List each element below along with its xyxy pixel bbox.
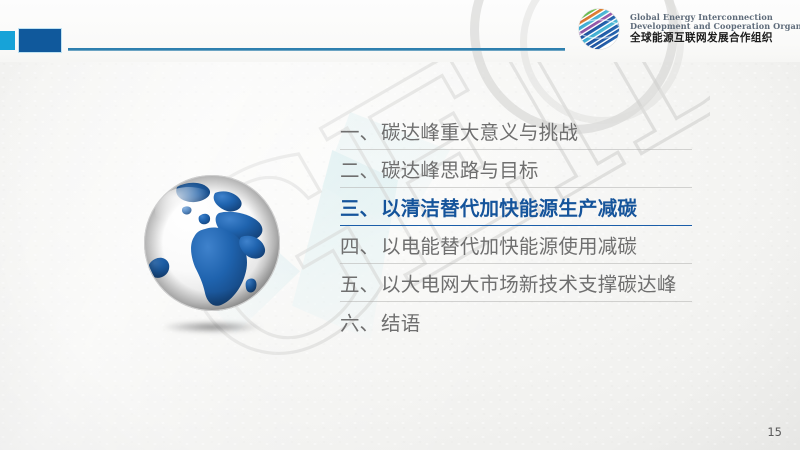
logo-chinese-name: 全球能源互联网发展合作组织	[630, 33, 800, 45]
earth-globe-graphic	[137, 171, 289, 346]
header-accent-square-cyan	[0, 31, 15, 50]
agenda-item-4[interactable]: 四、 以电能替代加快能源使用减碳	[340, 226, 692, 264]
globe-drop-shadow	[145, 319, 279, 335]
header-accent-square-blue	[18, 28, 62, 53]
agenda-item-1-number: 一、	[340, 116, 379, 145]
agenda-item-6-number: 六、	[340, 307, 379, 336]
organization-logo: Global Energy Interconnection Developmen…	[576, 6, 800, 52]
agenda-item-4-number: 四、	[340, 230, 379, 259]
presentation-slide: GEIDCO	[0, 0, 800, 450]
agenda-item-5[interactable]: 五、 以大电网大市场新技术支撑碳达峰	[340, 264, 692, 302]
slide-header: Global Energy Interconnection Developmen…	[0, 0, 800, 62]
agenda-item-2-label: 碳达峰思路与目标	[381, 154, 539, 183]
agenda-item-3-number: 三、	[340, 192, 379, 221]
agenda-item-1-label: 碳达峰重大意义与挑战	[381, 116, 578, 145]
agenda-item-2-number: 二、	[340, 154, 379, 183]
agenda-item-5-label: 以大电网大市场新技术支撑碳达峰	[381, 268, 677, 297]
agenda-item-3[interactable]: 三、 以清洁替代加快能源生产减碳	[340, 188, 692, 226]
globe-sphere	[137, 171, 287, 321]
agenda-item-6-label: 结语	[381, 307, 420, 336]
header-divider-rule	[68, 48, 565, 51]
logo-english-line-2: Development and Cooperation Organization	[630, 22, 800, 31]
agenda-item-1[interactable]: 一、 碳达峰重大意义与挑战	[340, 112, 692, 150]
agenda-item-2[interactable]: 二、 碳达峰思路与目标	[340, 150, 692, 188]
agenda-item-3-label: 以清洁替代加快能源生产减碳	[381, 192, 637, 221]
page-number: 15	[767, 425, 782, 439]
geidco-globe-logo	[576, 6, 622, 52]
logo-text-block: Global Energy Interconnection Developmen…	[630, 13, 800, 45]
agenda-item-5-number: 五、	[340, 268, 379, 297]
agenda-item-6[interactable]: 六、 结语	[340, 302, 692, 340]
agenda-list: 一、 碳达峰重大意义与挑战 二、 碳达峰思路与目标 三、 以清洁替代加快能源生产…	[340, 112, 692, 340]
agenda-item-4-label: 以电能替代加快能源使用减碳	[381, 230, 637, 259]
